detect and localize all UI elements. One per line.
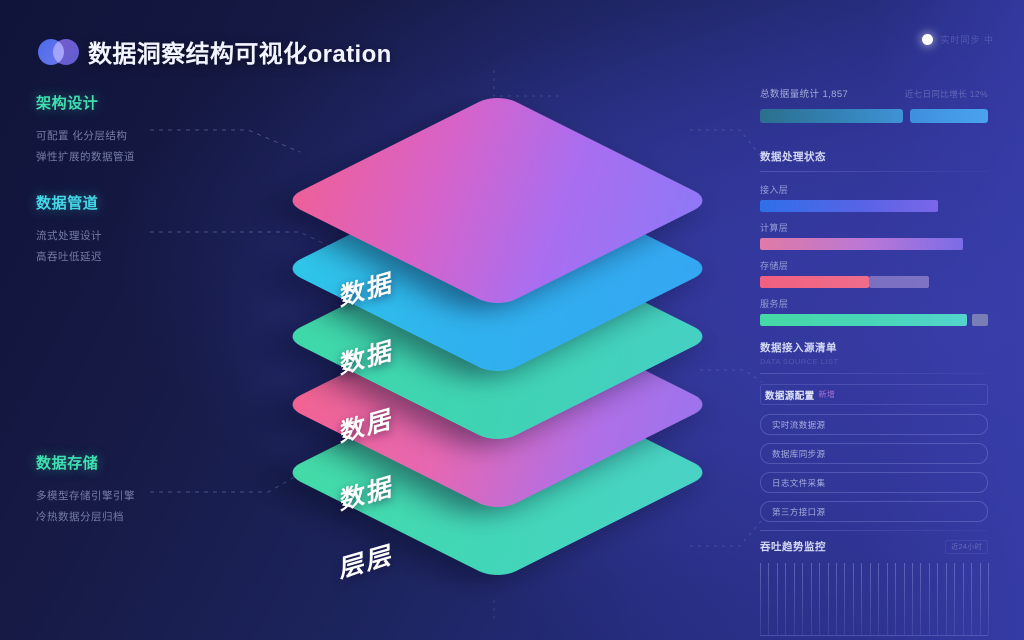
spark-gridline (768, 563, 769, 635)
spark-gridline (777, 563, 778, 635)
isometric-layer-stack: 层层 数据 数居 数据 数据 (262, 70, 732, 570)
spark-gridline (988, 563, 989, 635)
bar-fill (760, 314, 967, 326)
annotation-line: 多模型存储引擎引擎 (36, 486, 135, 507)
list-item[interactable]: 数据库同步源 (760, 443, 988, 464)
bar-label: 服务层 (760, 297, 988, 310)
spark-gridline (963, 563, 964, 635)
list-section: 数据接入源清单 DATA SOURCE LIST 数据源配置 新增 实时流数据源… (760, 340, 988, 522)
list-item[interactable]: 实时流数据源 (760, 414, 988, 435)
list-item[interactable]: 日志文件采集 (760, 472, 988, 493)
annotation-heading: 架构设计 (36, 92, 135, 113)
spark-section: 吞吐趋势监控 近24小时 00040812162024 (760, 530, 988, 640)
spark-gridline (785, 563, 786, 635)
bar-chart: 接入层 计算层 存储层 服务层 (760, 183, 988, 326)
spark-gridline (870, 563, 871, 635)
list-item-label: 第三方接口源 (772, 506, 825, 518)
bar-row: 计算层 (760, 221, 988, 250)
top-status-label: 实时同步 中 (940, 33, 994, 46)
bar-label: 接入层 (760, 183, 988, 196)
annotation-line: 冷热数据分层归档 (36, 507, 135, 528)
layer-storage-label: 层层 (340, 534, 394, 585)
annotation-group-2: 数据存储 多模型存储引擎引擎 冷热数据分层归档 (36, 452, 135, 528)
bar-fill-overlay (972, 314, 988, 326)
bar-row: 存储层 (760, 259, 988, 288)
source-list: 数据源配置 新增 实时流数据源 数据库同步源 日志文件采集 第三方接口源 (760, 384, 988, 522)
list-item-label: 日志文件采集 (772, 477, 825, 489)
list-heading: 数据接入源清单 (760, 340, 988, 355)
spark-gridline (887, 563, 888, 635)
spark-gridline (937, 563, 938, 635)
page-title: 数据洞察结构可视化oration (88, 34, 392, 69)
spark-gridline (895, 563, 896, 635)
spark-gridline (794, 563, 795, 635)
annotation-heading: 数据管道 (36, 192, 102, 213)
spark-gridline (946, 563, 947, 635)
bar-fill (760, 276, 869, 288)
stat-bar-primary (760, 109, 903, 123)
list-item-label: 数据库同步源 (772, 448, 825, 460)
spark-gridline (920, 563, 921, 635)
list-header-accent: 新增 (819, 389, 836, 400)
bar-chart-heading: 数据处理状态 (760, 149, 988, 164)
spark-legend: 近24小时 (945, 540, 988, 554)
bar-label: 计算层 (760, 221, 988, 234)
list-header-label: 数据源配置 (765, 388, 815, 402)
divider (760, 373, 988, 374)
spark-gridline (819, 563, 820, 635)
annotation-heading: 数据存储 (36, 452, 135, 473)
right-panel: 总数据量统计 1,857 近七日同比增长 12% 数据处理状态 接入层 计算层 (760, 86, 988, 640)
spark-gridline (971, 563, 972, 635)
app-root: 数据洞察结构可视化oration 实时同步 中 架构设计 可配置 化分层结构 弹… (0, 0, 1024, 640)
bar-fill (760, 238, 963, 250)
top-status[interactable]: 实时同步 中 (922, 33, 994, 46)
bar-row: 接入层 (760, 183, 988, 212)
spark-gridline (861, 563, 862, 635)
list-subheading: DATA SOURCE LIST (760, 357, 988, 366)
list-item-label: 实时流数据源 (772, 419, 825, 431)
spark-gridline (811, 563, 812, 635)
bar-fill-overlay (869, 276, 928, 288)
annotation-group-1: 数据管道 流式处理设计 高吞吐低延迟 (36, 192, 102, 268)
spark-gridline (954, 563, 955, 635)
spark-gridline (802, 563, 803, 635)
annotation-line: 高吞吐低延迟 (36, 247, 102, 268)
spark-gridline (828, 563, 829, 635)
divider (760, 171, 988, 172)
status-dot-icon (922, 34, 933, 45)
annotation-line: 流式处理设计 (36, 226, 102, 247)
bar-fill (760, 200, 938, 212)
list-item[interactable]: 第三方接口源 (760, 501, 988, 522)
spark-gridline (760, 563, 761, 635)
spark-gridline (904, 563, 905, 635)
spark-gridline (929, 563, 930, 635)
list-header-item[interactable]: 数据源配置 新增 (760, 384, 988, 405)
bar-row: 服务层 (760, 297, 988, 326)
bar-chart-section: 数据处理状态 接入层 计算层 存储层 (760, 149, 988, 326)
stat-bars (760, 109, 988, 123)
spark-gridline (878, 563, 879, 635)
spark-gridline (844, 563, 845, 635)
annotation-group-0: 架构设计 可配置 化分层结构 弹性扩展的数据管道 (36, 92, 135, 168)
spark-gridline (980, 563, 981, 635)
spark-gridline (853, 563, 854, 635)
stat-meta: 近七日同比增长 12% (905, 88, 988, 100)
stat-bar-secondary (910, 109, 988, 123)
annotation-line: 可配置 化分层结构 (36, 126, 135, 147)
divider (760, 530, 988, 531)
header: 数据洞察结构可视化oration (38, 34, 392, 69)
annotation-line: 弹性扩展的数据管道 (36, 147, 135, 168)
bar-label: 存储层 (760, 259, 988, 272)
spark-chart[interactable] (760, 563, 988, 636)
spark-gridline (836, 563, 837, 635)
spark-gridline (912, 563, 913, 635)
overlapping-circles-logo-icon (38, 37, 78, 67)
stat-label: 总数据量统计 1,857 (760, 86, 848, 100)
stat-row: 总数据量统计 1,857 近七日同比增长 12% (760, 86, 988, 123)
spark-heading: 吞吐趋势监控 (760, 539, 826, 554)
